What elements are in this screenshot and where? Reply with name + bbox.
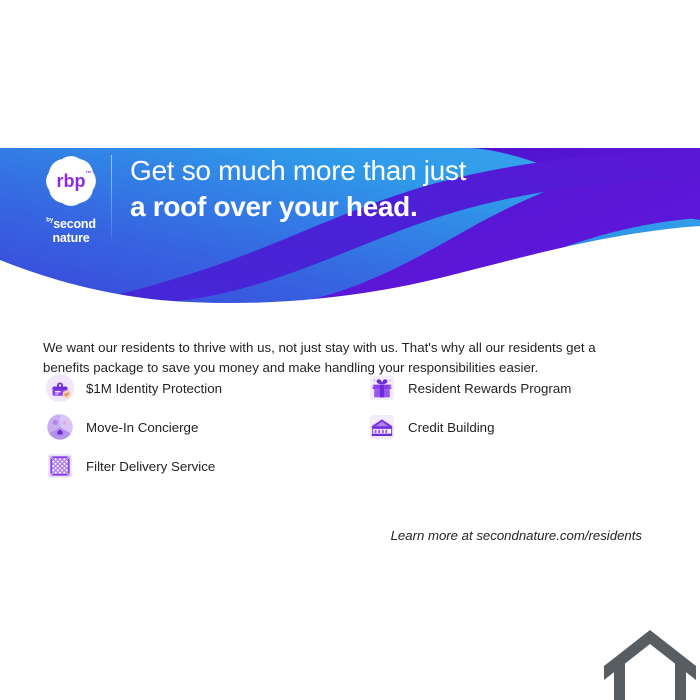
move-in-concierge-icon — [46, 413, 74, 441]
benefit-label: Credit Building — [408, 420, 494, 435]
benefit-label: Resident Rewards Program — [408, 381, 571, 396]
learn-more-text: Learn more at secondnature.com/residents — [391, 528, 642, 543]
credit-building-icon — [368, 413, 396, 441]
benefit-item-credit-building: Credit Building — [368, 413, 571, 441]
filter-delivery-icon — [46, 452, 74, 480]
benefit-item-identity-protection: $1M Identity Protection — [46, 374, 222, 402]
benefit-label: Move-In Concierge — [86, 420, 198, 435]
benefit-label: $1M Identity Protection — [86, 381, 222, 396]
benefit-item-move-in-concierge: Move-In Concierge — [46, 413, 222, 441]
rewards-gift-icon — [368, 374, 396, 402]
house-outline-icon — [600, 622, 700, 700]
intro-paragraph: We want our residents to thrive with us,… — [43, 338, 643, 377]
benefit-item-rewards-program: Resident Rewards Program — [368, 374, 571, 402]
benefits-right-column: Resident Rewards Program Credit Building — [368, 374, 571, 452]
benefits-left-column: $1M Identity Protection Move-In Concierg… — [46, 374, 222, 491]
banner-wave-graphic — [0, 148, 700, 308]
identity-protection-icon — [46, 374, 74, 402]
hero-banner — [0, 148, 700, 308]
benefit-label: Filter Delivery Service — [86, 459, 215, 474]
benefit-item-filter-delivery: Filter Delivery Service — [46, 452, 222, 480]
